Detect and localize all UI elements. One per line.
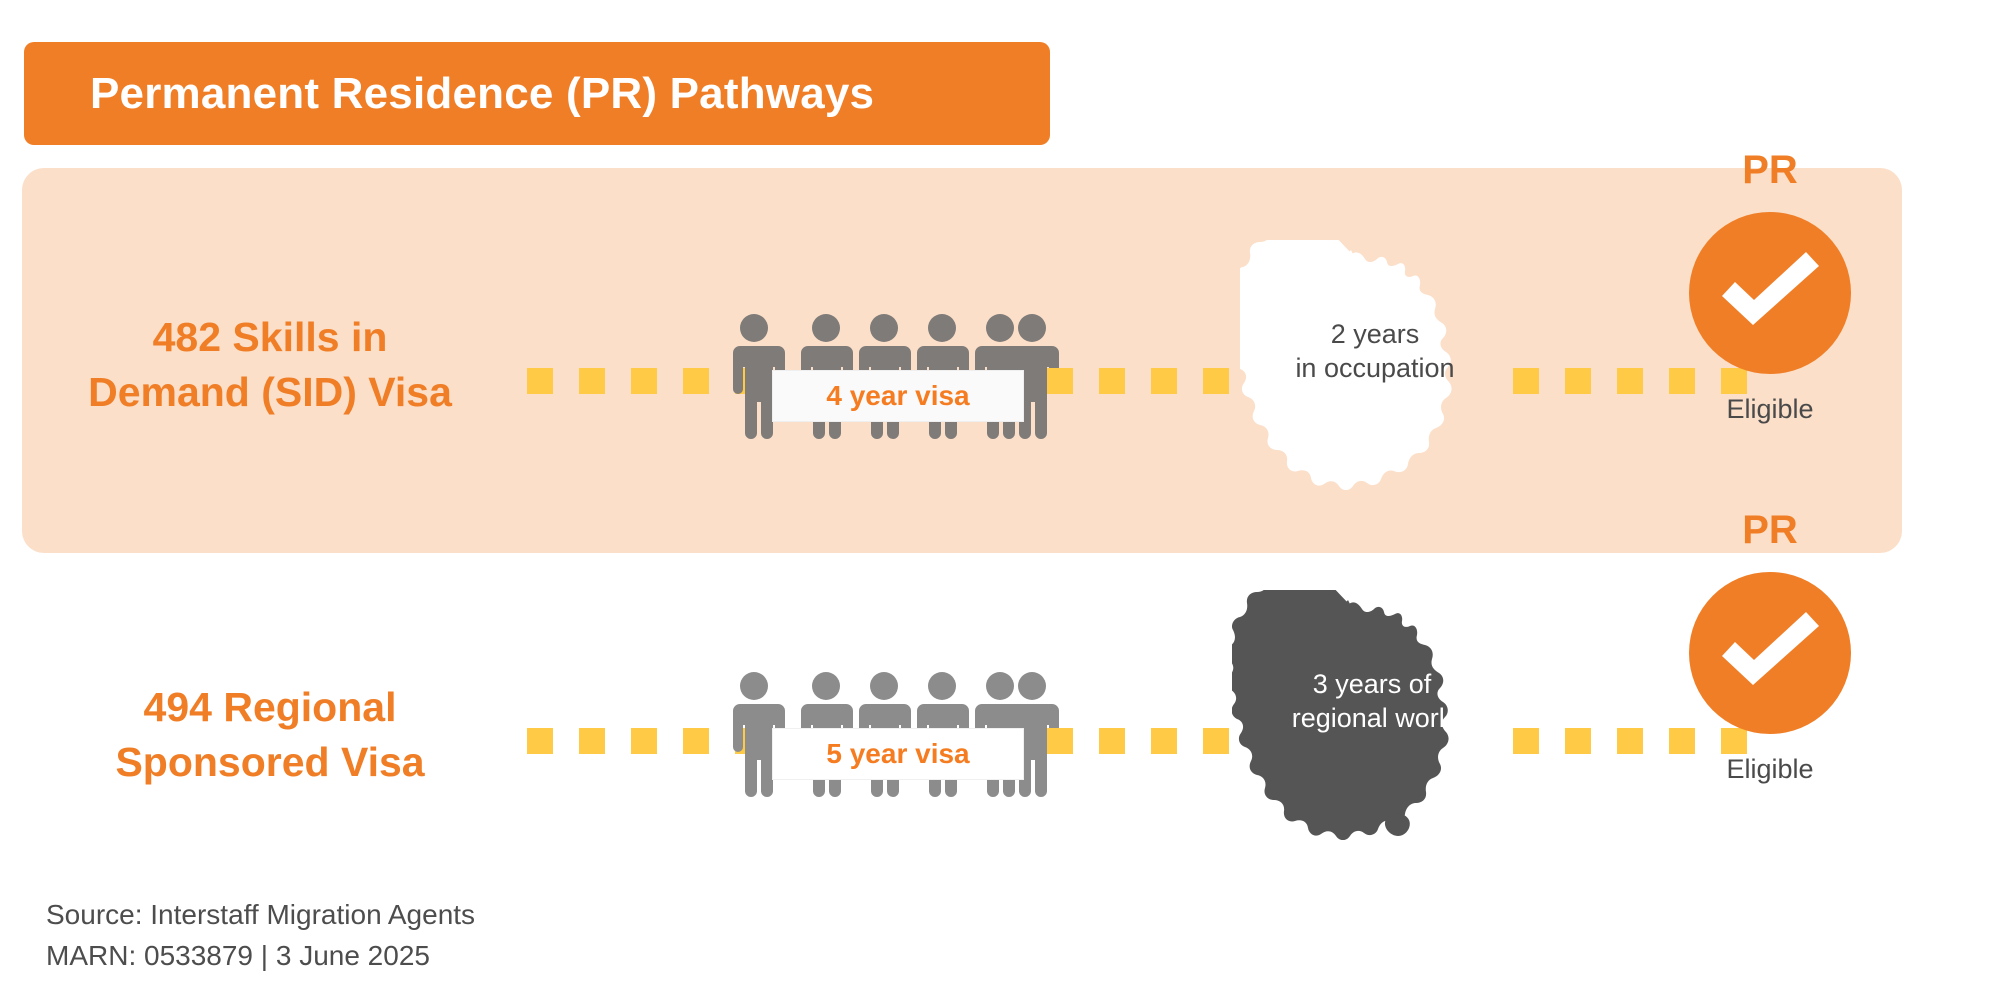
visa-name-494-line1: 494 Regional (40, 680, 500, 735)
title-banner: Permanent Residence (PR) Pathways (24, 42, 1050, 145)
dot (1565, 728, 1591, 754)
pr-outcome-482: PR Eligible (1620, 150, 1920, 425)
visa-name-482-line2: Demand (SID) Visa (40, 365, 500, 420)
pr-outcome-494: PR Eligible (1620, 510, 1920, 785)
pathway-row-482: 482 Skills in Demand (SID) Visa (0, 210, 2000, 510)
dot (631, 728, 657, 754)
visa-name-494-line2: Sponsored Visa (40, 735, 500, 790)
dot (1513, 728, 1539, 754)
dot (1565, 368, 1591, 394)
map-caption-482-line2: in occupation (1240, 352, 1510, 386)
dot (1047, 368, 1073, 394)
dot (1099, 728, 1125, 754)
visa-duration-text-482: 4 year visa (826, 380, 969, 412)
connector-dots-1a (527, 368, 761, 394)
pr-status-482: Eligible (1620, 394, 1920, 425)
visa-duration-banner-482: 4 year visa (772, 370, 1024, 422)
page-title: Permanent Residence (PR) Pathways (24, 69, 874, 119)
visa-duration-banner-494: 5 year visa (772, 728, 1024, 780)
dot (1513, 368, 1539, 394)
dot (683, 368, 709, 394)
dot (579, 728, 605, 754)
people-group-482: 4 year visa (728, 310, 1068, 445)
dot (527, 368, 553, 394)
dot (1151, 368, 1177, 394)
dot (683, 728, 709, 754)
dot (527, 728, 553, 754)
visa-name-482-line1: 482 Skills in (40, 310, 500, 365)
dot (579, 368, 605, 394)
pr-eligible-check-494 (1689, 572, 1851, 734)
source-line: Source: Interstaff Migration Agents (46, 895, 475, 936)
australia-map-482: 2 years in occupation (1240, 240, 1510, 490)
map-caption-494-line1: 3 years of (1232, 668, 1512, 702)
pr-eligible-check-482 (1689, 212, 1851, 374)
pathway-row-494: 494 Regional Sponsored Visa (0, 500, 2000, 800)
dot (1203, 728, 1229, 754)
marn-date-line: MARN: 0533879 | 3 June 2025 (46, 936, 475, 977)
pr-label-482: PR (1620, 150, 1920, 190)
dot (631, 368, 657, 394)
visa-duration-text-494: 5 year visa (826, 738, 969, 770)
check-icon (1689, 572, 1851, 734)
check-icon (1689, 212, 1851, 374)
dot (1203, 368, 1229, 394)
visa-name-494: 494 Regional Sponsored Visa (40, 680, 500, 789)
people-group-494: 5 year visa (728, 668, 1068, 803)
pr-status-494: Eligible (1620, 754, 1920, 785)
map-caption-494: 3 years of regional work (1232, 668, 1512, 736)
australia-map-494: 3 years of regional work (1232, 590, 1512, 840)
visa-name-482: 482 Skills in Demand (SID) Visa (40, 310, 500, 419)
map-caption-482-line1: 2 years (1240, 318, 1510, 352)
connector-dots-2a (527, 728, 761, 754)
dot (1099, 368, 1125, 394)
pr-label-494: PR (1620, 510, 1920, 550)
dot (1047, 728, 1073, 754)
dot (1151, 728, 1177, 754)
map-caption-494-line2: regional work (1232, 702, 1512, 736)
source-attribution: Source: Interstaff Migration Agents MARN… (46, 895, 475, 976)
infographic-canvas: Permanent Residence (PR) Pathways 482 Sk… (0, 0, 2000, 1000)
map-caption-482: 2 years in occupation (1240, 318, 1510, 386)
